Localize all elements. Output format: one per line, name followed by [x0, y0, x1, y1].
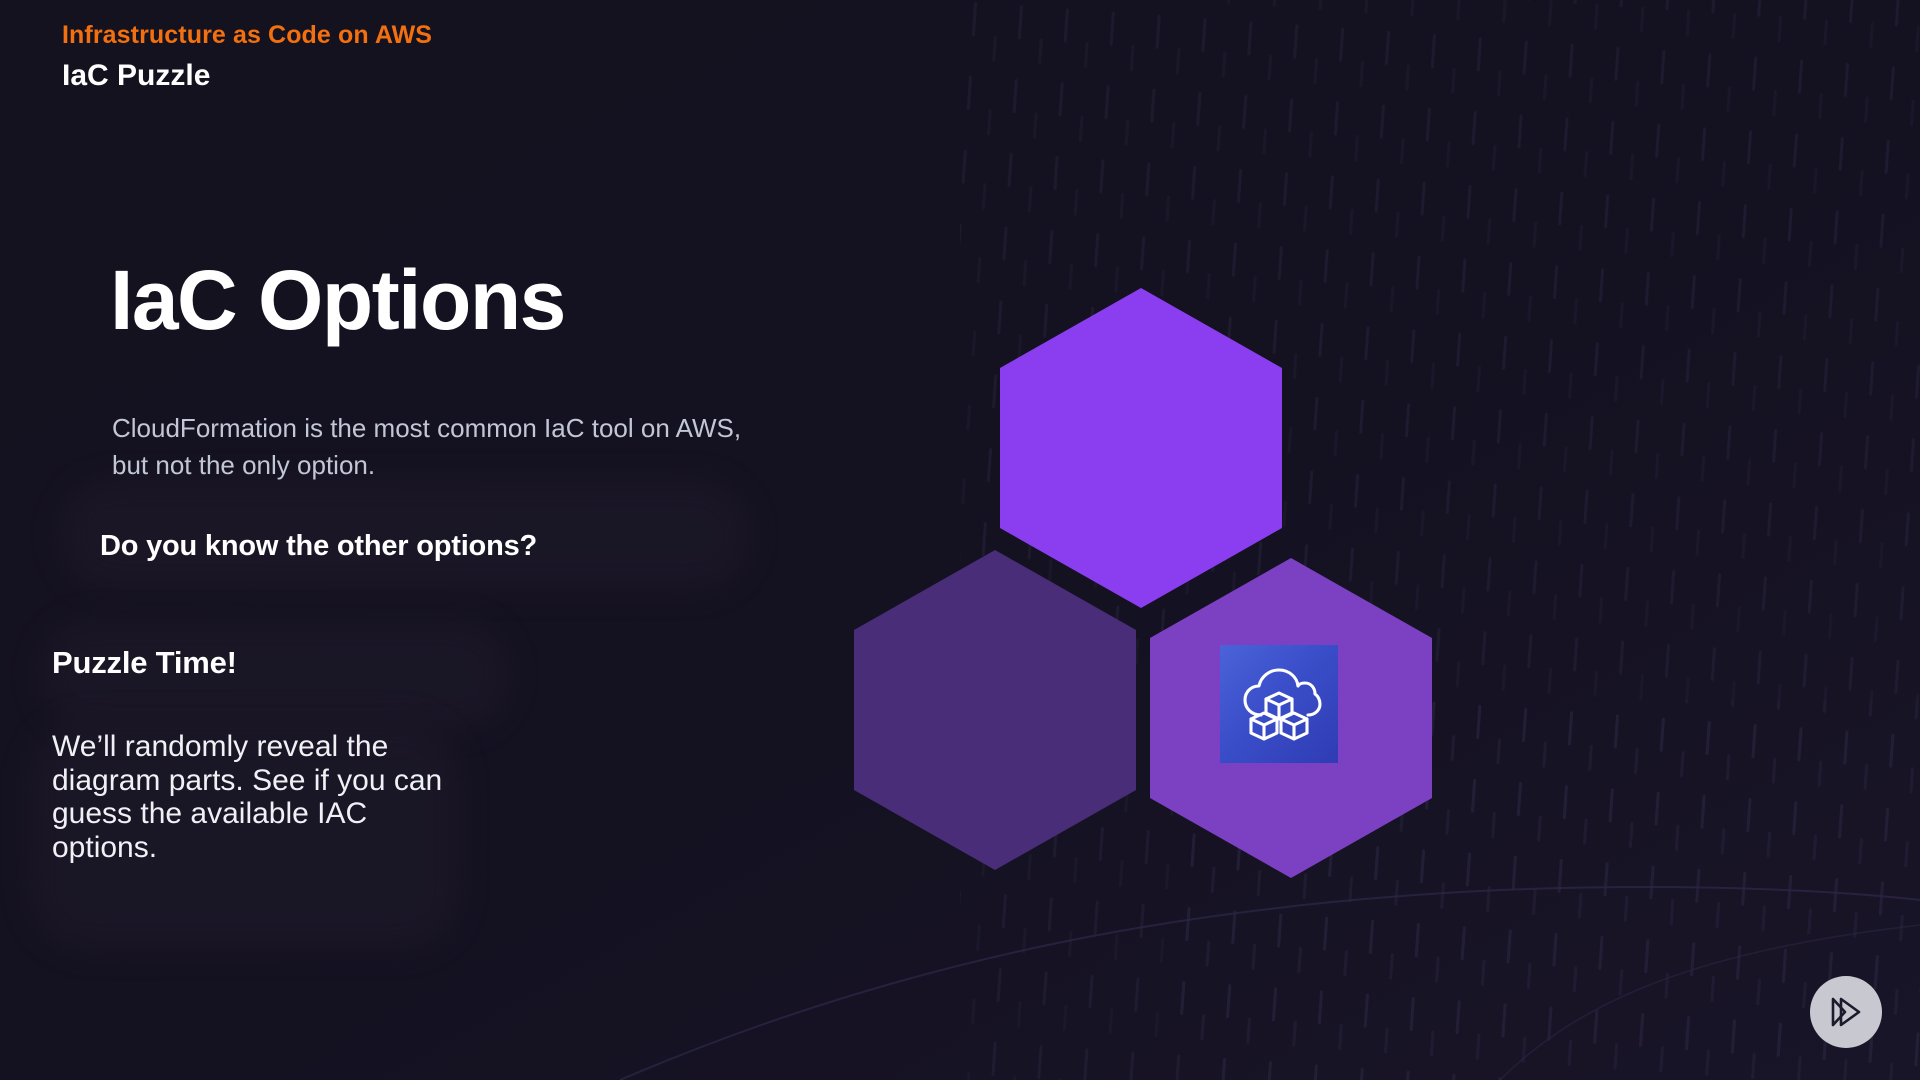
- section-heading: Puzzle Time!: [52, 645, 237, 681]
- course-kicker: Infrastructure as Code on AWS: [62, 20, 432, 50]
- question-line: Do you know the other options?: [100, 530, 537, 563]
- body-paragraph: We’ll randomly reveal the diagram parts.…: [52, 730, 452, 864]
- lead-paragraph: CloudFormation is the most common IaC to…: [112, 410, 742, 484]
- slide-header: Infrastructure as Code on AWS IaC Puzzle: [62, 20, 432, 94]
- aws-cloudformation-icon: [1220, 645, 1338, 763]
- deck-title: IaC Puzzle: [62, 58, 432, 94]
- page-title: IaC Options: [110, 258, 565, 342]
- hexagon-tile-top[interactable]: [1000, 288, 1282, 608]
- hexagon-tile-bottom-left[interactable]: [854, 550, 1136, 870]
- double-play-icon[interactable]: [1810, 976, 1882, 1048]
- iac-hexagon-cluster: [830, 280, 1450, 880]
